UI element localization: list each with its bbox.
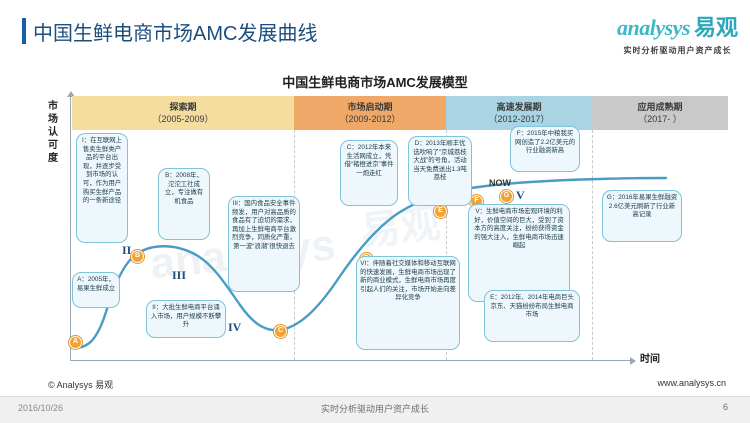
callout-event-F: F：2015年中粮我买网创造了2.2亿美元的行业融资新高 [510,126,580,172]
website-url: www.analysys.cn [657,378,726,388]
callout-stage-VI: VI：伴随着社交媒体和移动互联网的快速发展，生鲜电商市场出现了新的商业模式，生鲜… [356,256,460,350]
callout-event-D: D：2013年顺丰优选吹响了“京城荔枝大战”的号角，活动当天免费送出1.3吨荔枝 [408,136,472,206]
event-marker-C: C [274,325,287,338]
callout-stage-I: I：在互联网上售卖生鲜类产品的平台出现，并逐步受到市场的认可，作为用户购买生鲜产… [76,133,128,243]
footer-page-number: 6 [723,402,728,412]
copyright-note: © Analysys 易观 [48,378,113,391]
stage-numeral-V: V [516,188,525,203]
event-marker-G: G [500,190,513,203]
now-label: NOW [489,178,511,188]
stage-numeral-II: II [122,243,131,258]
event-marker-B: B [131,250,144,263]
callout-event-E: E：2012年、2014年电商巨头京东、天猫纷纷布局生鲜电商市场 [484,290,580,342]
stage-numeral-III: III [172,268,186,283]
event-marker-E: E [434,205,447,218]
callout-stage-II: II：大批生鲜电商平台涌入市场，用户规模不断攀升 [146,300,226,338]
callout-event-C: C：2012年本来生活网成立，凭借“褚橙进京”事件一炮走红 [340,140,398,206]
callout-stage-III: III：国内食品安全事件频发，用户对高品质的食品有了迫切的需求，再加上生鲜电商平… [228,196,300,292]
footer-tagline: 实时分析驱动用户资产成长 [0,402,750,415]
callout-stage-V: V：生鲜电商市场宏观环境的利好，价值空间的巨大，受到了资本方的高度关注，纷纷获得… [468,204,570,302]
event-marker-A: A [69,336,82,349]
callout-event-G: G：2016年易果生鲜融资2.6亿美元刷新了行业新高记录 [602,190,682,242]
callout-event-B: B：2008年，沱沱工社成立，专注做有机食品 [158,168,210,240]
stage-numeral-IV: IV [228,320,241,335]
callout-event-A: A：2005年，易果生鲜成立 [72,272,120,308]
